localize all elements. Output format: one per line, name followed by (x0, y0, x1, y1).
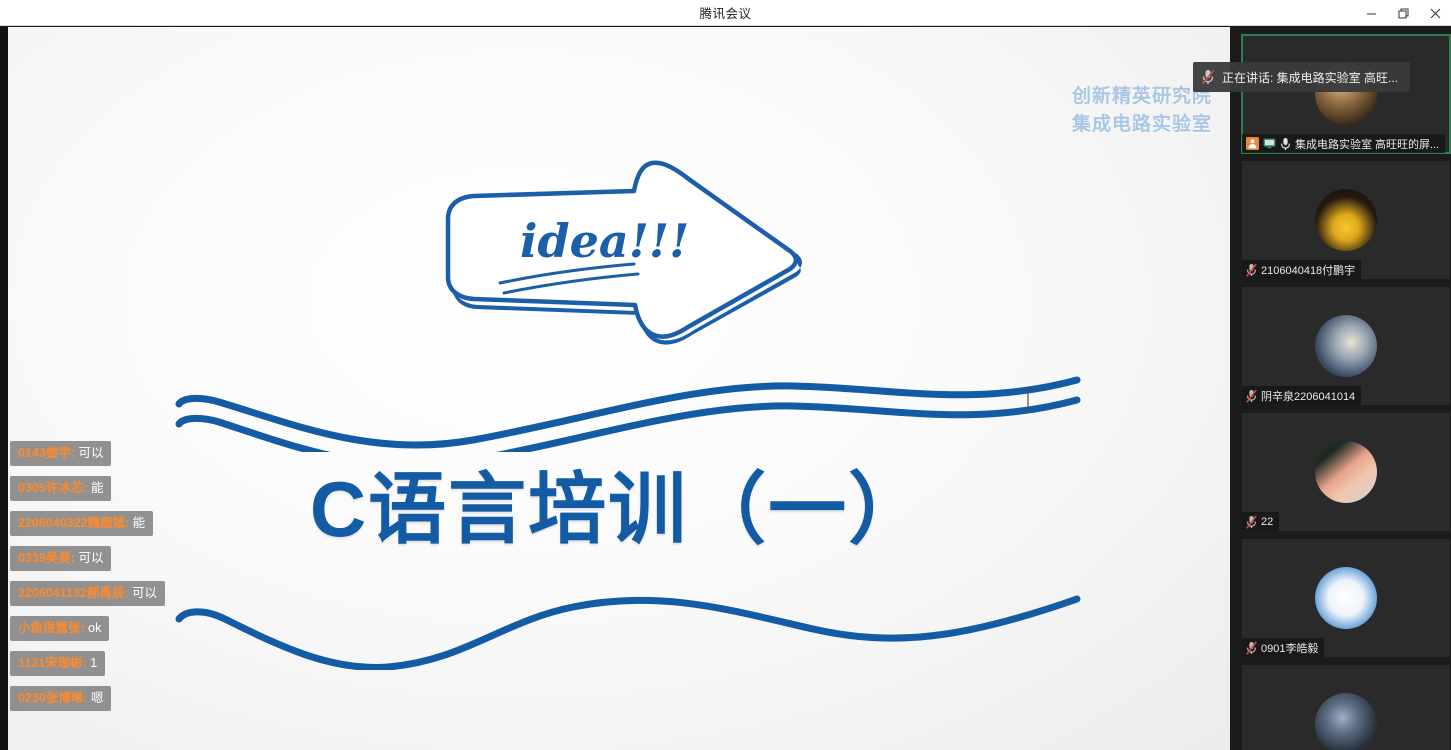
chat-sender: 小鱼很嚣张: (18, 621, 85, 635)
participant-tile[interactable]: 2106040418付鹏宇 (1242, 161, 1450, 279)
chat-message-row: 0305许冰芯: 能 (10, 476, 310, 511)
avatar (1315, 441, 1377, 503)
participant-name: 集成电路实验室 高旺旺的屏... (1295, 136, 1439, 152)
slide-organization-text: 创新精英研究院 集成电路实验室 (1072, 83, 1212, 138)
restore-icon (1398, 8, 1409, 19)
chat-message-row: 小鱼很嚣张: ok (10, 616, 310, 651)
chat-sender: 2206041132郝禹辰: (18, 586, 129, 600)
chat-sender: 2206040322魏鹿斌: (18, 516, 129, 530)
avatar (1315, 315, 1377, 377)
mic-muted-icon (1246, 389, 1257, 403)
chat-overlay: 0143姜宇: 可以 0305许冰芯: 能 2206040322魏鹿斌: 能 0… (10, 441, 310, 721)
chat-message: 0339吴昊: 可以 (10, 546, 111, 571)
chat-text: 嗯 (91, 691, 104, 705)
mic-muted-icon (1246, 515, 1257, 529)
participant-label: 阴辛泉2206041014 (1242, 386, 1361, 405)
chat-text: ok (88, 621, 101, 635)
restore-button[interactable] (1387, 0, 1419, 26)
raise-hand-icon (1246, 137, 1259, 150)
chat-text: 可以 (78, 446, 103, 460)
chat-text: 可以 (132, 586, 157, 600)
participant-name: 22 (1261, 516, 1273, 528)
participant-name: 0901李皓毅 (1261, 640, 1318, 656)
participant-name: 阴辛泉2206041014 (1261, 388, 1355, 404)
chat-sender: 0339吴昊: (18, 551, 75, 565)
shared-screen-stage[interactable]: 创新精英研究院 集成电路实验室 idea!!! C语言培训（一） (0, 27, 1230, 750)
chat-message: 0143姜宇: 可以 (10, 441, 111, 466)
participant-name: 2106040418付鹏宇 (1261, 262, 1355, 278)
chat-message: 2206040322魏鹿斌: 能 (10, 511, 153, 536)
chat-sender: 0230张博琳: (18, 691, 87, 705)
org-line-2: 集成电路实验室 (1072, 111, 1212, 139)
idea-arrow-graphic: idea!!! (438, 147, 838, 347)
chat-sender: 1131宋珈彬: (18, 656, 87, 670)
participant-video-strip[interactable]: 集成电路实验室 高旺旺的屏... 2106040418付鹏宇 阴辛泉2206 (1230, 27, 1451, 750)
chat-text: 能 (133, 516, 146, 530)
chat-message-row: 0230张博琳: 嗯 (10, 686, 310, 721)
window-controls (1355, 0, 1451, 26)
speaking-indicator-text: 正在讲话: 集成电路实验室 高旺... (1222, 69, 1398, 86)
participant-label: 2106040418付鹏宇 (1242, 260, 1361, 279)
mic-muted-icon (1246, 641, 1257, 655)
chat-message: 0305许冰芯: 能 (10, 476, 111, 501)
chat-sender: 0143姜宇: (18, 446, 75, 460)
chat-message-row: 1131宋珈彬: 1 (10, 651, 310, 686)
chat-text: 可以 (78, 551, 103, 565)
org-line-1: 创新精英研究院 (1072, 83, 1212, 111)
chat-text: 1 (90, 656, 97, 670)
mic-muted-icon (1201, 69, 1215, 85)
window-title: 腾讯会议 (0, 3, 1451, 22)
chat-message-row: 0339吴昊: 可以 (10, 546, 310, 581)
chat-text: 能 (91, 481, 104, 495)
avatar (1315, 567, 1377, 629)
wave-line-3 (179, 599, 1077, 667)
participant-tile[interactable]: 阴辛泉2206041014 (1242, 287, 1450, 405)
window-title-bar: 腾讯会议 (0, 0, 1451, 26)
chat-message-row: 0143姜宇: 可以 (10, 441, 310, 476)
chat-message: 2206041132郝禹辰: 可以 (10, 581, 165, 606)
participant-tile[interactable]: 0901李皓毅 (1242, 539, 1450, 657)
chat-message: 1131宋珈彬: 1 (10, 651, 105, 676)
wave-top-graphic (173, 362, 1083, 452)
participant-tile[interactable]: 集成电路实验室 高旺旺的屏... (1242, 35, 1450, 153)
participant-label: 集成电路实验室 高旺旺的屏... (1242, 134, 1445, 153)
chat-sender: 0305许冰芯: (18, 481, 87, 495)
speaking-indicator-toast: 正在讲话: 集成电路实验室 高旺... (1193, 62, 1410, 92)
close-icon (1430, 8, 1441, 19)
close-button[interactable] (1419, 0, 1451, 26)
avatar (1315, 189, 1377, 251)
minimize-button[interactable] (1355, 0, 1387, 26)
mic-muted-icon (1246, 263, 1257, 277)
avatar (1315, 693, 1377, 750)
chat-message: 0230张博琳: 嗯 (10, 686, 111, 711)
participant-tile[interactable]: 0342沈云泽 (1242, 665, 1450, 750)
minimize-icon (1366, 8, 1377, 19)
stage-left-letterbox (0, 27, 8, 750)
chat-message: 小鱼很嚣张: ok (10, 616, 109, 641)
mic-icon (1280, 137, 1291, 151)
idea-text: idea!!! (520, 214, 689, 268)
chat-message-row: 2206040322魏鹿斌: 能 (10, 511, 310, 546)
screen-share-icon (1263, 137, 1276, 150)
participant-label: 22 (1242, 512, 1279, 531)
chat-message-row: 2206041132郝禹辰: 可以 (10, 581, 310, 616)
participant-label: 0901李皓毅 (1242, 638, 1324, 657)
participant-tile[interactable]: 22 (1242, 413, 1450, 531)
